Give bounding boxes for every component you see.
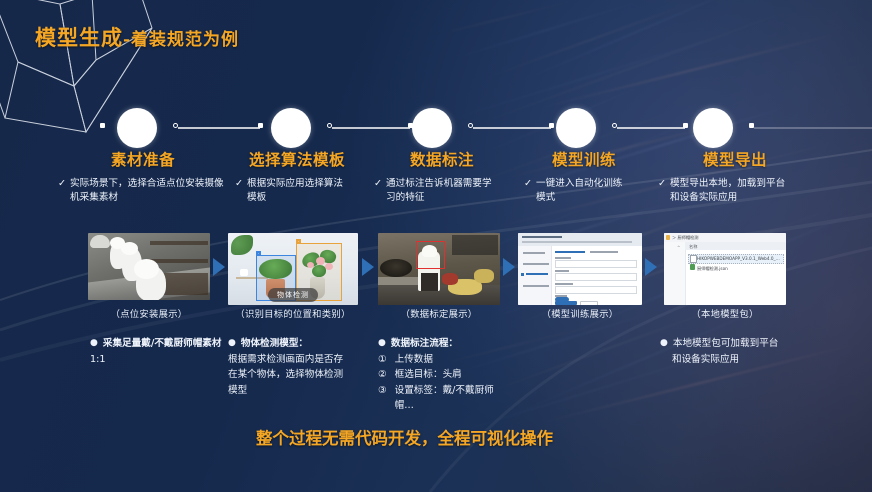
step-check-5: ✓ 模型导出本地，加载到平台和设备实际应用 bbox=[640, 177, 830, 205]
flower-bloom bbox=[307, 262, 314, 268]
tab-label bbox=[590, 251, 618, 253]
shelf-line bbox=[150, 241, 208, 245]
select-field[interactable] bbox=[555, 273, 637, 281]
explorer-file-name-2[interactable]: 厨师帽检测.json bbox=[697, 266, 728, 272]
page-title-main: 模型生成 bbox=[35, 25, 123, 50]
timeline-marker-4a bbox=[549, 123, 554, 128]
flower-bloom bbox=[316, 257, 325, 265]
step-check-text-3: 通过标注告诉机器需要学习的特征 bbox=[386, 177, 494, 205]
step-column-2: 选择算法模板 ✓ 根据实际应用选择算法模板 bbox=[217, 148, 377, 205]
wok-object bbox=[380, 259, 412, 277]
bullet-line: 1:1 bbox=[90, 352, 230, 368]
cancel-button[interactable] bbox=[580, 301, 598, 305]
step-check-1: ✓ 实际场景下，选择合适点位安装摄像机采集素材 bbox=[58, 177, 228, 205]
photo-object-detection: · · 物体检测 bbox=[228, 233, 358, 305]
step-check-text-2: 根据实际应用选择算法模板 bbox=[247, 177, 343, 205]
flow-arrow-2 bbox=[362, 258, 374, 276]
bullet-heading: 物体检测模型： bbox=[241, 336, 308, 352]
detection-tag-blue: · bbox=[256, 251, 261, 256]
explorer-file-name-1[interactable]: HIKOPWEBDEMOAPP_V3.0.1_Web4.0_… bbox=[697, 256, 780, 261]
page-title-sub: -着装规范为例 bbox=[123, 30, 239, 50]
check-icon: ✓ bbox=[58, 177, 66, 205]
leaf-decoration bbox=[231, 235, 253, 255]
bullet-heading: 数据标注流程： bbox=[391, 336, 458, 352]
photo-caption-3: （数据标定展示） bbox=[378, 306, 500, 320]
annotation-box-red bbox=[416, 241, 445, 269]
timeline-node-1[interactable] bbox=[117, 108, 157, 148]
timeline-node-4[interactable] bbox=[556, 108, 596, 148]
bullet-dot-icon: ● bbox=[228, 336, 236, 351]
flower-bloom bbox=[325, 263, 333, 270]
numbered-text-2: 框选目标：头肩 bbox=[395, 367, 462, 383]
bullet-block-3: ● 数据标注流程： ① 上传数据 ② 框选目标：头肩 ③ 设置标签：戴/不戴厨师… bbox=[378, 336, 528, 414]
field-label bbox=[555, 257, 571, 259]
detection-overlay-label: 物体检测 bbox=[268, 288, 318, 302]
json-file-icon bbox=[690, 264, 695, 270]
photo-model-training-ui bbox=[518, 233, 642, 305]
light-trail bbox=[502, 0, 771, 90]
step-column-1: 素材准备 ✓ 实际场景下，选择合适点位安装摄像机采集素材 bbox=[58, 148, 228, 205]
nav-item-active bbox=[526, 273, 548, 275]
numbered-item: ① 上传数据 bbox=[378, 352, 528, 368]
timeline-node-5[interactable] bbox=[693, 108, 733, 148]
bullet-line: 根据需求检测画面内是否存 bbox=[228, 352, 368, 368]
photo-data-labeling bbox=[378, 233, 500, 305]
potted-plant-leaves bbox=[259, 259, 292, 279]
explorer-nav-pane[interactable] bbox=[664, 242, 686, 305]
bullet-line: 模型 bbox=[228, 383, 368, 399]
timeline-marker-start bbox=[100, 123, 105, 128]
flow-arrow-3 bbox=[503, 258, 515, 276]
bullet-dot-icon: ● bbox=[90, 336, 98, 351]
nav-collapse-icon[interactable]: ^ bbox=[677, 245, 680, 250]
timeline-node-2[interactable] bbox=[271, 108, 311, 148]
chef-hat bbox=[121, 242, 138, 255]
input-field[interactable] bbox=[555, 260, 637, 268]
timeline-connector-4 bbox=[617, 127, 685, 129]
check-icon: ✓ bbox=[374, 177, 382, 205]
step-check-2: ✓ 根据实际应用选择算法模板 bbox=[217, 177, 377, 205]
bullet-block-2: ● 物体检测模型： 根据需求检测画面内是否存 在某个物体，选择物体检测 模型 bbox=[228, 336, 368, 398]
step-check-3: ✓ 通过标注告诉机器需要学习的特征 bbox=[362, 177, 522, 205]
bullet-line: 在某个物体，选择物体检测 bbox=[228, 367, 368, 383]
field-label bbox=[555, 270, 569, 272]
ui-subtitle-text bbox=[522, 241, 632, 243]
slide-canvas: 模型生成-着装规范为例 素材准备 ✓ 实际场景下，选择合适点位安装摄像机采集素材 bbox=[0, 0, 872, 492]
step-check-text-1: 实际场景下，选择合适点位安装摄像机采集素材 bbox=[70, 177, 228, 205]
number-icon-3: ③ bbox=[378, 383, 387, 414]
photo-caption-5: （本地模型包） bbox=[664, 306, 786, 320]
food-item bbox=[474, 269, 494, 283]
file-icon bbox=[690, 255, 697, 263]
shelf-line bbox=[150, 259, 208, 263]
step-title-5: 模型导出 bbox=[640, 148, 830, 170]
step-check-text-4: 一键进入自动化训练模式 bbox=[536, 177, 628, 205]
chef-hat bbox=[134, 259, 159, 279]
cctv-camera-icon bbox=[90, 235, 110, 248]
bullet-head-3: ● 数据标注流程： bbox=[378, 336, 528, 352]
photo-site-installation bbox=[88, 233, 210, 300]
page-title: 模型生成-着装规范为例 bbox=[35, 22, 239, 52]
check-icon: ✓ bbox=[235, 177, 243, 205]
light-trail bbox=[452, 0, 587, 42]
numbered-text-3: 设置标签：戴/不戴厨师帽… bbox=[395, 383, 503, 414]
bullet-head-2: ● 物体检测模型： bbox=[228, 336, 368, 352]
timeline-marker-5a bbox=[683, 123, 688, 128]
bullet-line: 本地模型包可加载到平台 bbox=[673, 336, 779, 352]
flower-leaves bbox=[312, 265, 326, 277]
step-title-2: 选择算法模板 bbox=[217, 148, 377, 170]
nav-item bbox=[523, 285, 549, 287]
ui-header-bar bbox=[518, 233, 642, 246]
photo-caption-2: （识别目标的位置和类别） bbox=[222, 306, 364, 320]
cup-object bbox=[240, 269, 248, 276]
photo-caption-1: （点位安装展示） bbox=[88, 306, 210, 320]
bullet-dot-icon: ● bbox=[660, 336, 668, 351]
shelf-unit bbox=[162, 273, 208, 295]
timeline-connector-3 bbox=[473, 127, 551, 129]
flow-arrow-4 bbox=[645, 258, 657, 276]
photo-local-model-package: ＞ 厨师帽检测 ^ 名称 HIKOPWEBDEMOAPP_V3.0.1_Web4… bbox=[664, 233, 786, 305]
step-check-text-5: 模型导出本地，加载到平台和设备实际应用 bbox=[670, 177, 788, 205]
check-icon: ✓ bbox=[658, 177, 666, 205]
ui-title-text bbox=[522, 236, 562, 238]
numbered-item: ③ 设置标签：戴/不戴厨师帽… bbox=[378, 383, 528, 414]
bullet-block-1: ● 采集足量戴/不戴厨师帽素材 1:1 bbox=[90, 336, 230, 367]
bullet-head-1: ● 采集足量戴/不戴厨师帽素材 bbox=[90, 336, 230, 352]
photo-caption-4: （模型训练展示） bbox=[518, 306, 642, 320]
folder-icon bbox=[666, 235, 670, 240]
explorer-column-header-bar bbox=[685, 242, 786, 250]
nav-selected-dot bbox=[521, 273, 524, 276]
step-title-3: 数据标注 bbox=[362, 148, 522, 170]
timeline-connector-tail bbox=[754, 127, 872, 129]
explorer-breadcrumb-text[interactable]: ＞ 厨师帽检测 bbox=[672, 235, 698, 241]
field-label bbox=[555, 283, 573, 285]
submit-button[interactable] bbox=[555, 301, 577, 305]
explorer-column-header-name[interactable]: 名称 bbox=[689, 244, 697, 250]
bullet-line: 和设备实际应用 bbox=[660, 352, 820, 368]
step-column-5: 模型导出 ✓ 模型导出本地，加载到平台和设备实际应用 bbox=[640, 148, 830, 205]
bullet-block-5: ● 本地模型包可加载到平台 和设备实际应用 bbox=[660, 336, 820, 367]
detection-tag-orange: · bbox=[296, 239, 301, 244]
number-icon-1: ① bbox=[378, 352, 387, 368]
chef-apron bbox=[421, 273, 438, 291]
step-column-3: 数据标注 ✓ 通过标注告诉机器需要学习的特征 bbox=[362, 148, 522, 205]
select-field[interactable] bbox=[555, 286, 637, 294]
flow-arrow-1 bbox=[213, 258, 225, 276]
timeline-node-3[interactable] bbox=[412, 108, 452, 148]
check-icon: ✓ bbox=[524, 177, 532, 205]
hood-unit bbox=[452, 235, 498, 255]
nav-item bbox=[523, 263, 549, 265]
food-item bbox=[442, 273, 458, 285]
bullet-head-5: ● 本地模型包可加载到平台 bbox=[660, 336, 820, 352]
bullet-line: 采集足量戴/不戴厨师帽素材 bbox=[103, 336, 222, 352]
number-icon-2: ② bbox=[378, 367, 387, 383]
summary-banner: 整个过程无需代码开发，全程可视化操作 bbox=[256, 427, 636, 451]
background-light-trails bbox=[452, 0, 872, 492]
nav-item bbox=[523, 252, 545, 254]
numbered-text-1: 上传数据 bbox=[395, 352, 433, 368]
bullet-dot-icon: ● bbox=[378, 336, 386, 351]
timeline-marker-2a bbox=[258, 123, 263, 128]
numbered-item: ② 框选目标：头肩 bbox=[378, 367, 528, 383]
timeline-connector-2 bbox=[332, 127, 410, 129]
timeline-connector-1 bbox=[178, 127, 260, 129]
step-title-1: 素材准备 bbox=[58, 148, 228, 170]
tab-label bbox=[555, 251, 585, 253]
